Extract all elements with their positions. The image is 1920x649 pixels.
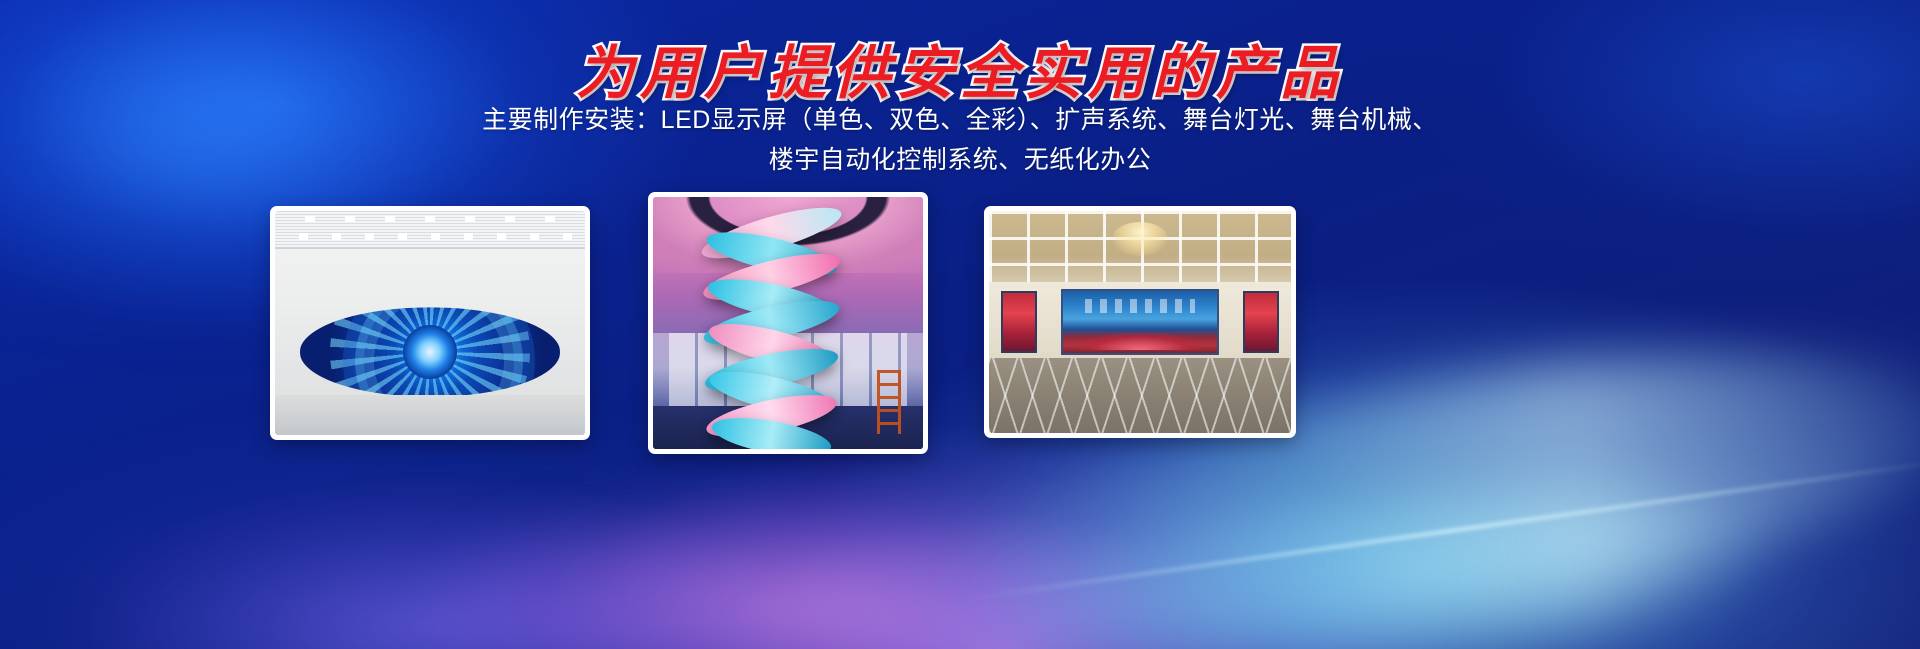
banner-subtitle-line-2: 楼宇自动化控制系统、无纸化办公: [0, 140, 1920, 180]
photo-eye-shaped-led-display-image: [275, 211, 585, 435]
checkered-marble-floor: [989, 358, 1291, 433]
louvered-ceiling: [275, 211, 585, 249]
background-glow-magenta-center: [430, 489, 1150, 649]
photo-spiral-led-column[interactable]: [648, 192, 928, 454]
main-led-screen: [1061, 289, 1218, 356]
side-led-panel-right: [1243, 291, 1279, 353]
photo-banquet-hall-led-screen[interactable]: [984, 206, 1296, 438]
photo-spiral-led-column-image: [653, 197, 923, 449]
photo-eye-shaped-led-display[interactable]: [270, 206, 590, 440]
project-photo-strip: [0, 196, 1920, 456]
step-ladder: [877, 370, 901, 434]
side-led-panel-left: [1001, 291, 1037, 353]
banner-headline-text: 为用户提供安全实用的产品: [576, 26, 1344, 110]
led-product-banner: 为用户提供安全实用的产品 主要制作安装：LED显示屏（单色、双色、全彩）、扩声系…: [0, 0, 1920, 649]
chandelier: [1112, 222, 1168, 256]
banner-headline: 为用户提供安全实用的产品: [0, 26, 1920, 110]
eye-shaped-led-screen: [300, 307, 560, 397]
background-light-streak-secondary: [935, 472, 1805, 649]
showroom-floor: [275, 395, 585, 435]
led-ring-pattern: [355, 307, 523, 397]
photo-banquet-hall-led-screen-image: [989, 211, 1291, 433]
background-glow-line: [965, 458, 1920, 600]
spiral-led-ribbon: [696, 212, 847, 444]
banner-subtitle-line-1: 主要制作安装：LED显示屏（单色、双色、全彩）、扩声系统、舞台灯光、舞台机械、: [0, 100, 1920, 140]
background-glow-violet-left: [120, 519, 760, 649]
